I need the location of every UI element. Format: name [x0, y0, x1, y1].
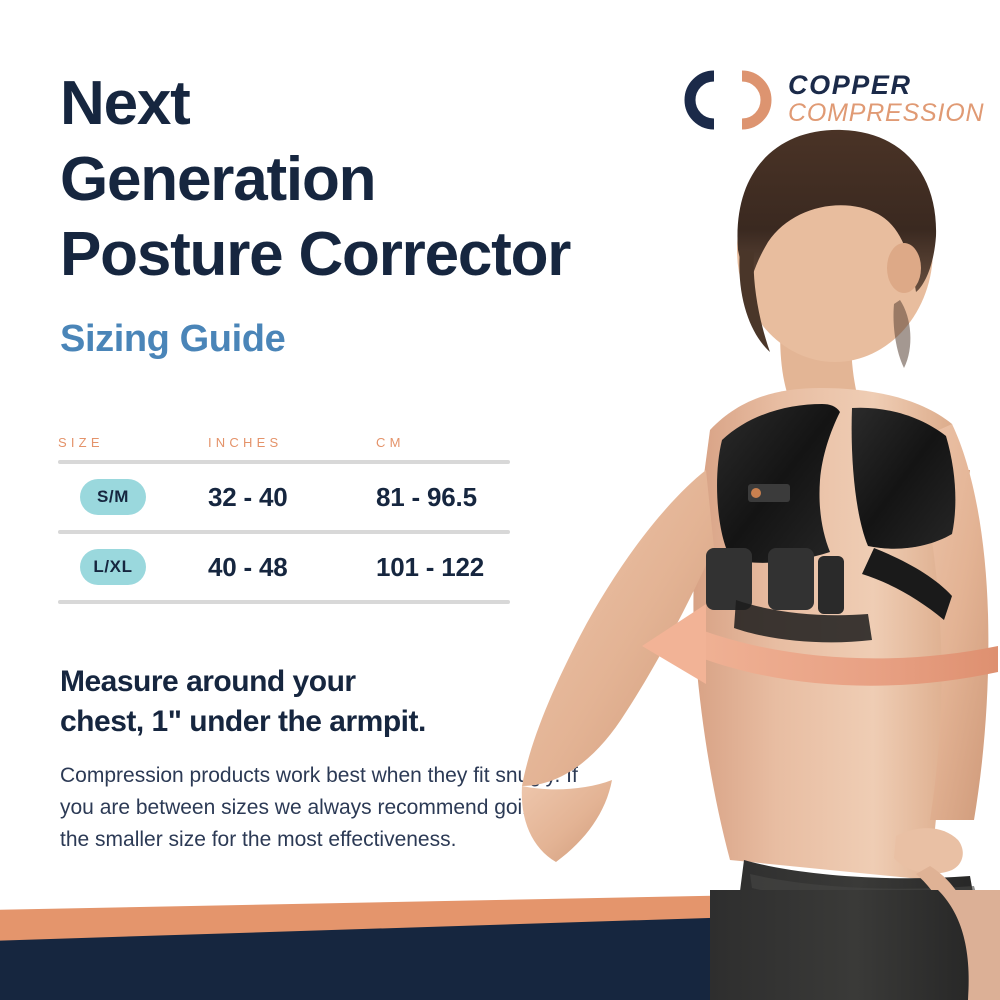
bottom-banner [0, 890, 1000, 1000]
table-header-row: SIZE INCHES CM [58, 424, 510, 460]
banner-photo-overlap [710, 890, 1000, 1000]
inches-value-lxl: 40 - 48 [208, 552, 376, 583]
column-header-cm: CM [376, 435, 510, 450]
table-row: L/XL 40 - 48 101 - 122 [58, 534, 510, 600]
page-subtitle: Sizing Guide [60, 318, 285, 361]
column-header-inches: INCHES [208, 435, 376, 450]
size-badge-sm: S/M [80, 479, 146, 515]
model-photo [500, 0, 1000, 1000]
cm-value-lxl: 101 - 122 [376, 552, 510, 583]
table-divider [58, 600, 510, 604]
column-header-size: SIZE [58, 435, 208, 450]
size-badge-lxl: L/XL [80, 549, 146, 585]
cm-value-sm: 81 - 96.5 [376, 482, 510, 513]
sizing-guide-page: COPPER COMPRESSION Next Generation Postu… [0, 0, 1000, 1000]
brace-logo-tag [748, 484, 790, 502]
table-row: S/M 32 - 40 81 - 96.5 [58, 464, 510, 530]
sizing-table: SIZE INCHES CM S/M 32 - 40 81 - 96.5 L/X… [58, 424, 510, 604]
size-cell: S/M [58, 479, 208, 515]
inches-value-sm: 32 - 40 [208, 482, 376, 513]
size-cell: L/XL [58, 549, 208, 585]
